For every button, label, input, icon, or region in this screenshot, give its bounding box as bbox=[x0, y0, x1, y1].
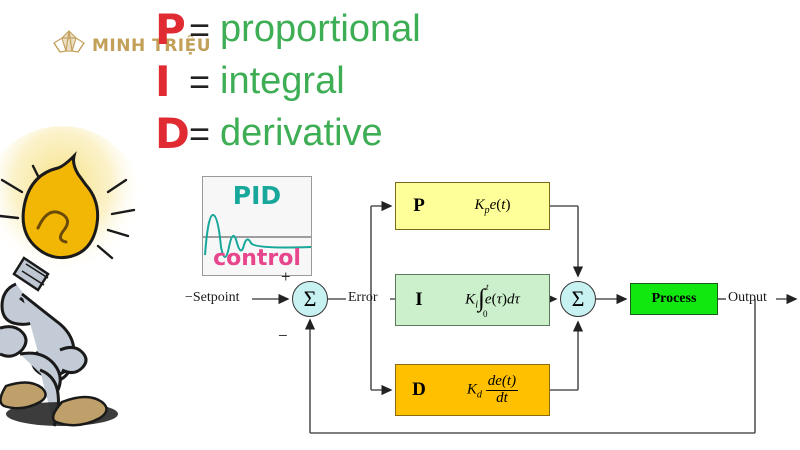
derivative-numerator: de(t) bbox=[486, 374, 518, 391]
legend-equals-d: = bbox=[189, 116, 210, 152]
legend-letter-i: I bbox=[155, 61, 189, 103]
derivative-denominator: dt bbox=[486, 391, 518, 407]
derivative-formula: Kd de(t) dt bbox=[442, 374, 549, 407]
legend-word-derivative: derivative bbox=[220, 114, 383, 154]
sum-symbol-1: Σ bbox=[304, 286, 317, 312]
legend-word-proportional: proportional bbox=[220, 10, 421, 50]
legend-equals-p: = bbox=[189, 12, 210, 48]
sum-symbol-2: Σ bbox=[572, 286, 585, 312]
integral-block: I Kit∫0e(τ)dτ bbox=[395, 274, 550, 326]
pid-infographic: MINH TRIỆU P = proportional I = integral… bbox=[0, 0, 800, 450]
plus-sign: + bbox=[281, 267, 291, 287]
legend-row-proportional: P = proportional bbox=[155, 4, 575, 56]
pid-block-diagram: PID control −Setpoint Error Output + − Σ… bbox=[180, 168, 800, 450]
thinker-illustration-svg bbox=[0, 118, 160, 438]
legend-row-integral: I = integral bbox=[155, 56, 575, 108]
error-label: Error bbox=[348, 290, 378, 306]
integral-lower-limit: 0 bbox=[483, 309, 488, 319]
legend-equals-i: = bbox=[189, 64, 210, 100]
derivative-letter: D bbox=[396, 379, 442, 401]
pid-logo-bottom-text: control bbox=[203, 246, 311, 271]
setpoint-label: −Setpoint bbox=[185, 290, 240, 306]
output-label: Output bbox=[728, 290, 767, 306]
minus-sign: − bbox=[278, 326, 288, 346]
gem-lotus-icon bbox=[52, 28, 86, 63]
integral-upper-limit: t bbox=[486, 282, 489, 292]
lightbulb-thinker-figure bbox=[0, 118, 160, 438]
derivative-block: D Kd de(t) dt bbox=[395, 364, 550, 416]
legend-word-integral: integral bbox=[220, 62, 345, 102]
pid-legend: P = proportional I = integral D = deriva… bbox=[155, 4, 575, 160]
legend-letter-d: D bbox=[155, 113, 189, 155]
legend-row-derivative: D = derivative bbox=[155, 108, 575, 160]
process-block: Process bbox=[630, 283, 718, 315]
proportional-block: P Kpe(t) bbox=[395, 182, 550, 230]
control-summing-junction: Σ bbox=[560, 281, 596, 317]
error-summing-junction: Σ bbox=[292, 281, 328, 317]
pid-logo-top-text: PID bbox=[203, 181, 311, 210]
proportional-letter: P bbox=[396, 195, 442, 217]
proportional-formula: Kpe(t) bbox=[442, 197, 549, 216]
integral-formula: Kit∫0e(τ)dτ bbox=[442, 289, 549, 311]
pid-logo-box: PID control bbox=[202, 176, 312, 276]
integral-letter: I bbox=[396, 289, 442, 311]
legend-letter-p: P bbox=[155, 9, 189, 51]
